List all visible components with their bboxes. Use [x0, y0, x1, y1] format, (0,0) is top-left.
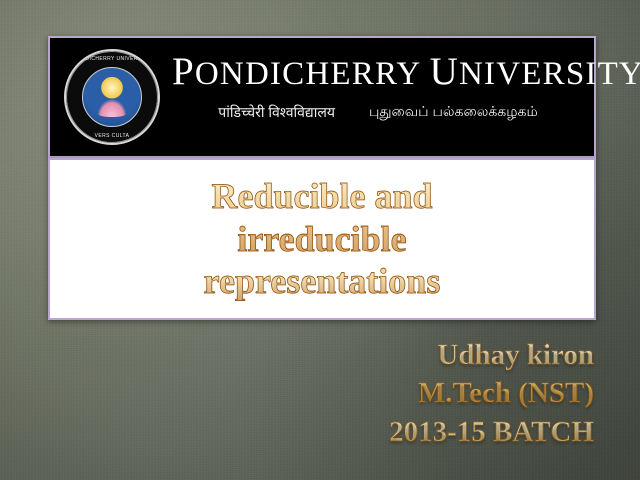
university-seal-icon: PONDICHERRY UNIVERSITY VERS CULTA	[64, 49, 160, 145]
presentation-slide: PONDICHERRY UNIVERSITY VERS CULTA PONDIC…	[0, 0, 640, 480]
university-name-p: P	[172, 50, 195, 93]
author-name: Udhay kiron	[389, 336, 594, 374]
title-line-2: irreducible	[204, 218, 441, 260]
banner-text-block: PONDICHERRY UNIVERSITY पांडिच्चेरी विश्व…	[172, 52, 584, 122]
author-batch: 2013-15 BATCH	[389, 413, 594, 451]
subtitle-hindi: पांडिच्चेरी विश्वविद्यालय	[218, 103, 335, 122]
university-name-ondicherry: ONDICHERRY	[195, 56, 430, 92]
seal-core	[82, 67, 142, 127]
title-line-3: representations	[204, 260, 441, 302]
author-degree: M.Tech (NST)	[389, 374, 594, 412]
author-block: Udhay kiron M.Tech (NST) 2013-15 BATCH	[389, 336, 594, 451]
university-banner: PONDICHERRY UNIVERSITY VERS CULTA PONDIC…	[48, 36, 596, 158]
subtitle-tamil: புதுவைப் பல்கலைக்கழகம்	[369, 103, 538, 122]
university-subtitles: पांडिच्चेरी विश्वविद्यालय புதுவைப் பல்கல…	[172, 103, 584, 122]
university-name-u: U	[430, 50, 459, 93]
university-name: PONDICHERRY UNIVERSITY	[172, 52, 584, 93]
title-card: Reducible and irreducible representation…	[48, 158, 596, 320]
seal-top-label: PONDICHERRY UNIVERSITY	[66, 56, 158, 62]
title-line-1: Reducible and	[204, 175, 441, 217]
slide-title: Reducible and irreducible representation…	[188, 175, 457, 302]
seal-bottom-label: VERS CULTA	[66, 133, 158, 139]
university-name-niversity: NIVERSITY	[459, 56, 640, 92]
banner-inner: PONDICHERRY UNIVERSITY VERS CULTA PONDIC…	[50, 38, 594, 156]
